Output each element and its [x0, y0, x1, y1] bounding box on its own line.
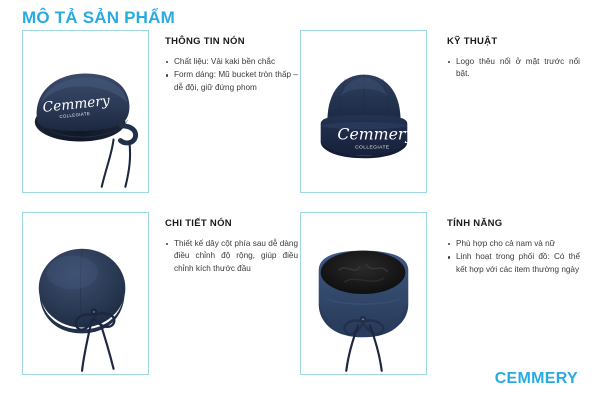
section-heading: THÔNG TIN NÓN — [165, 36, 298, 47]
page-title: MÔ TẢ SẢN PHẨM — [22, 8, 175, 28]
list-item: Logo thêu nổi ở mặt trước nổi bật. — [447, 56, 580, 81]
section-block-thong-tin-non: THÔNG TIN NÓN Chất liệu: Vải kaki bền ch… — [165, 36, 298, 95]
section-heading: TÍNH NĂNG — [447, 218, 580, 229]
list-item: Phù hợp cho cả nam và nữ — [447, 238, 580, 250]
hat-back-view-illustration — [23, 213, 148, 374]
hat-interior-view-illustration — [301, 213, 426, 374]
product-photo-frame-1: Cemmery COLLEGIATE — [22, 30, 149, 193]
section-bullet-list: Logo thêu nổi ở mặt trước nổi bật. — [447, 56, 580, 81]
hat-side-view-illustration: Cemmery COLLEGIATE — [23, 31, 148, 192]
list-item: Linh hoạt trong phối đồ: Có thể kết hợp … — [447, 251, 580, 276]
hat-side-view-photo: Cemmery COLLEGIATE — [23, 31, 148, 192]
section-block-chi-tiet-non: CHI TIẾT NÓN Thiết kế dây cột phía sau d… — [165, 218, 298, 276]
section-block-tinh-nang: TÍNH NĂNG Phù hợp cho cả nam và nữ Linh … — [447, 218, 580, 277]
section-bullet-list: Chất liệu: Vải kaki bền chắc Form dáng: … — [165, 56, 298, 94]
list-item: Form dáng: Mũ bucket tròn thấp – dễ đội,… — [165, 69, 298, 94]
list-item: Thiết kế dây cột phía sau dễ dàng điều c… — [165, 238, 298, 275]
section-heading: KỸ THUẬT — [447, 36, 580, 47]
hat-back-view-photo — [23, 213, 148, 374]
section-heading: CHI TIẾT NÓN — [165, 218, 298, 229]
product-photo-frame-4 — [300, 212, 427, 375]
section-bullet-list: Thiết kế dây cột phía sau dễ dàng điều c… — [165, 238, 298, 275]
product-photo-frame-2: Cemmery COLLEGIATE — [300, 30, 427, 193]
section-bullet-list: Phù hợp cho cả nam và nữ Linh hoạt trong… — [447, 238, 580, 276]
hat-logo-script: Cemmery — [337, 125, 415, 144]
product-photo-frame-3 — [22, 212, 149, 375]
hat-front-view-photo: Cemmery COLLEGIATE — [301, 31, 426, 192]
list-item: Chất liệu: Vải kaki bền chắc — [165, 56, 298, 68]
hat-interior-view-photo — [301, 213, 426, 374]
hat-front-view-illustration: Cemmery COLLEGIATE — [301, 31, 426, 192]
section-block-ky-thuat: KỸ THUẬT Logo thêu nổi ở mặt trước nổi b… — [447, 36, 580, 82]
product-description-infographic: MÔ TẢ SẢN PHẨM — [0, 0, 600, 400]
brand-logo: CEMMERY — [495, 370, 578, 388]
hat-logo-sub: COLLEGIATE — [355, 144, 390, 150]
